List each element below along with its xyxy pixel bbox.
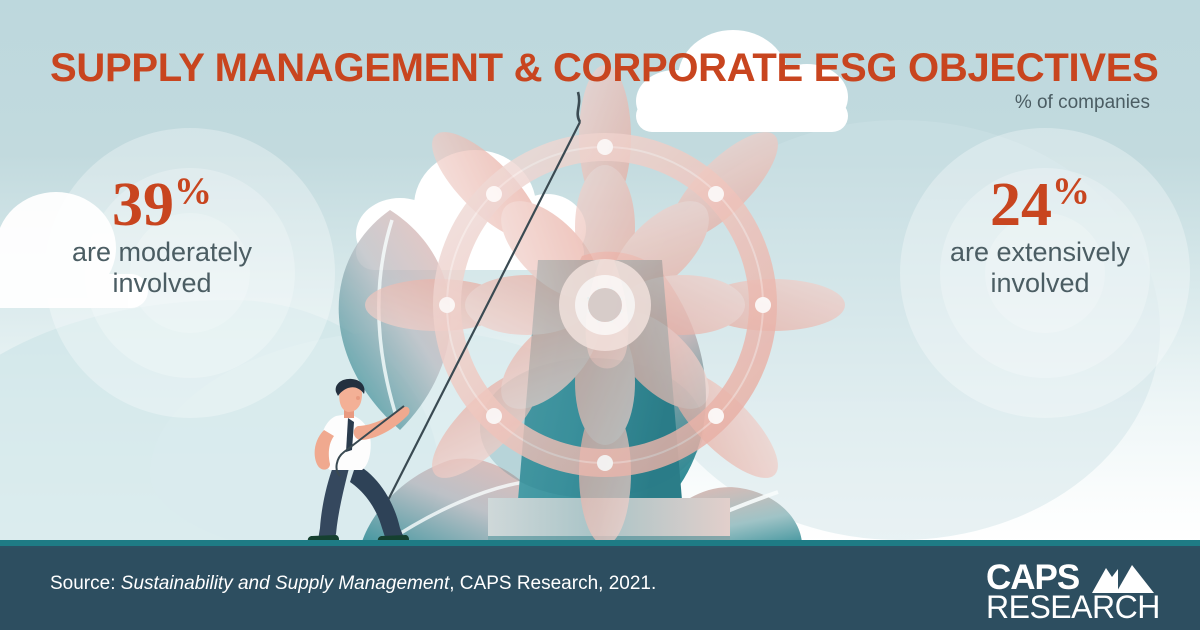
source-suffix: , CAPS Research, 2021. (449, 573, 656, 594)
source-publication-title: Sustainability and Supply Management (121, 573, 449, 594)
logo-research-text: RESEARCH (986, 591, 1160, 623)
stat-percent-left: % (174, 170, 212, 212)
caps-research-logo: CAPS RESEARCH (986, 560, 1154, 622)
businessman-figure (300, 378, 420, 546)
stat-number-left: 39 (112, 171, 174, 239)
stat-number-right: 24 (990, 171, 1052, 239)
stat-percent-right: % (1052, 170, 1090, 212)
stat-caption-right-line2: involved (990, 268, 1089, 298)
stat-caption-right-line1: are extensively (950, 237, 1130, 267)
mountain-peaks-icon (1092, 560, 1154, 594)
stat-extensively-involved: 24% are extensively involved (890, 176, 1190, 298)
stat-moderately-involved: 39% are moderately involved (12, 176, 312, 298)
page-title: SUPPLY MANAGEMENT & CORPORATE ESG OBJECT… (50, 46, 1158, 91)
stat-value-left: 39% (12, 176, 312, 235)
infographic-canvas: SUPPLY MANAGEMENT & CORPORATE ESG OBJECT… (0, 0, 1200, 630)
source-prefix: Source: (50, 573, 121, 594)
stat-value-right: 24% (890, 176, 1190, 235)
stat-caption-left: are moderately involved (12, 237, 312, 299)
source-note: Source: Sustainability and Supply Manage… (50, 573, 656, 595)
stat-caption-right: are extensively involved (890, 237, 1190, 299)
stat-caption-left-line1: are moderately (72, 237, 252, 267)
stat-caption-left-line2: involved (112, 268, 211, 298)
subtitle: % of companies (1015, 92, 1150, 114)
wheel-hub (559, 259, 651, 351)
